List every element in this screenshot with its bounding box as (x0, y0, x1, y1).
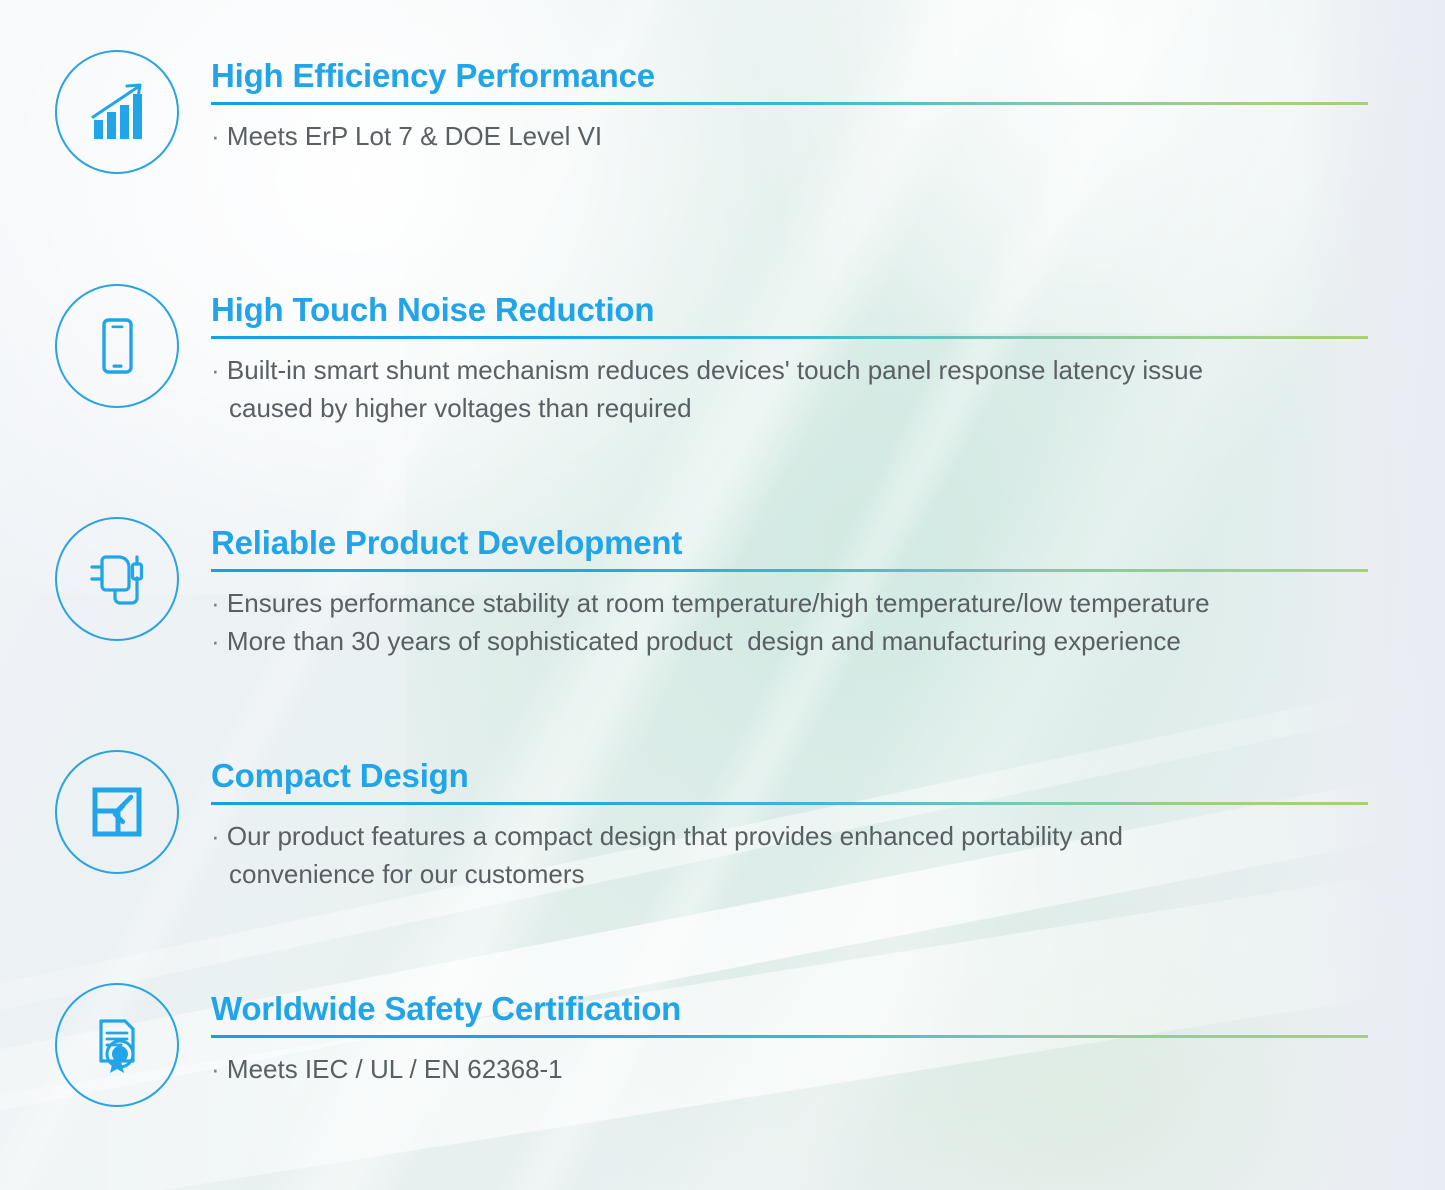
bullet-dot: · (211, 121, 220, 151)
bar-chart-growth-glyph (82, 77, 152, 147)
feature-divider (211, 569, 1368, 572)
certificate-award-glyph (81, 1009, 153, 1081)
feature-divider (211, 1035, 1368, 1038)
feature-line-text: convenience for our customers (211, 855, 585, 893)
feature-line-text: Ensures performance stability at room te… (227, 588, 1210, 618)
feature-line-text: Meets ErP Lot 7 & DOE Level VI (227, 121, 602, 151)
feature-list: High Efficiency Performance · Meets ErP … (0, 0, 1445, 1190)
compact-resize-glyph (82, 777, 152, 847)
feature-divider (211, 802, 1368, 805)
feature-divider (211, 102, 1368, 105)
smartphone-glyph (82, 311, 152, 381)
power-adapter-glyph (80, 542, 154, 616)
feature-line-text: Built-in smart shunt mechanism reduces d… (227, 355, 1203, 385)
bullet-dot: · (211, 355, 220, 385)
feature-divider (211, 336, 1368, 339)
certificate-award-icon (55, 983, 179, 1107)
compact-resize-icon (55, 750, 179, 874)
bar-chart-growth-icon (55, 50, 179, 174)
feature-line-text: Meets IEC / UL / EN 62368-1 (227, 1054, 563, 1084)
bullet-dot: · (211, 626, 220, 656)
feature-line-text: Our product features a compact design th… (227, 821, 1123, 851)
smartphone-icon (55, 284, 179, 408)
power-adapter-icon (55, 517, 179, 641)
bullet-dot: · (211, 821, 220, 851)
feature-line-text: caused by higher voltages than required (211, 389, 692, 427)
bullet-dot: · (211, 1054, 220, 1084)
feature-line-text: More than 30 years of sophisticated prod… (227, 626, 1181, 656)
bullet-dot: · (211, 588, 220, 618)
